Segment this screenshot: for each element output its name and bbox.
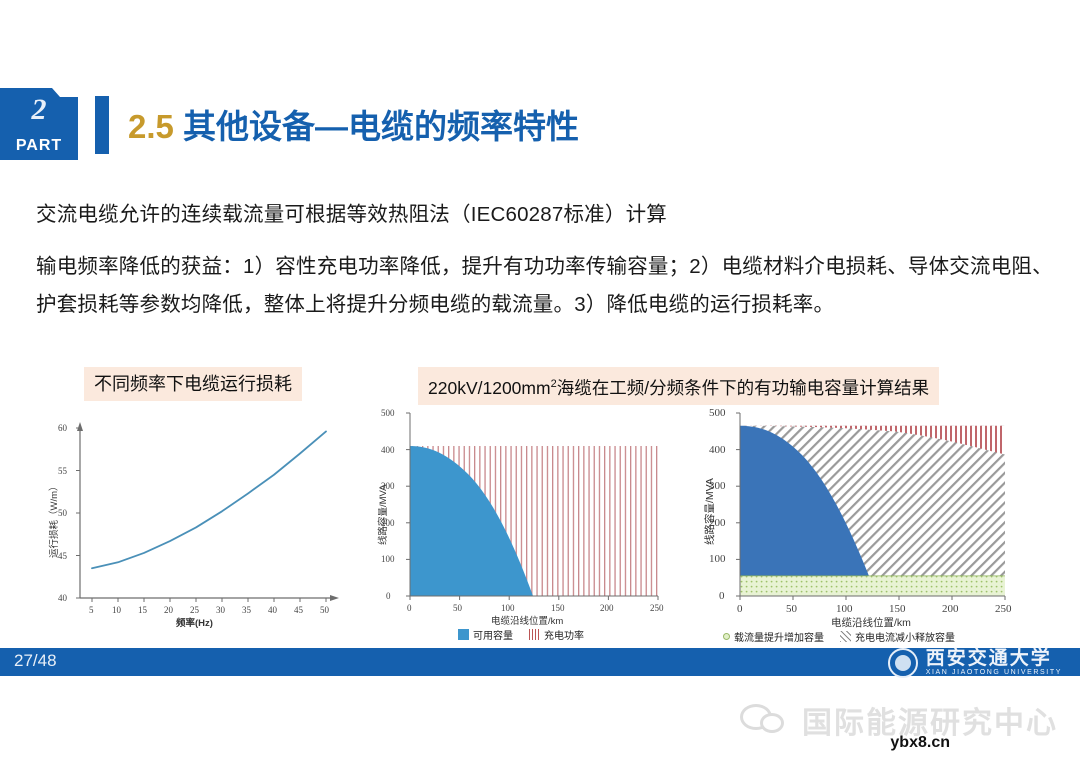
page-title: 2.5 其他设备—电缆的频率特性: [128, 100, 579, 148]
chart1-ytick-55: 55: [58, 466, 67, 476]
chart2-xtick-100: 100: [501, 603, 515, 613]
chart1-xtick-20: 20: [164, 605, 173, 615]
chart2-xaxis-label: 电缆沿线位置/km: [491, 613, 563, 627]
chart3-legend-item-1: 充电电流减小释放容量: [840, 629, 955, 644]
wechat-bubble-small: [760, 713, 784, 733]
paragraph-2: 输电频率降低的获益：1）容性充电功率降低，提升有功功率传输容量；2）电缆材料介电…: [36, 248, 1056, 324]
banner-right-post: 海缆在工频/分频条件下的有功输电容量计算结果: [557, 378, 929, 398]
chart2-xtick-250: 250: [650, 603, 664, 613]
chart3-ytick-100: 100: [709, 553, 726, 565]
chart2-xtick-50: 50: [453, 603, 462, 613]
page-number: 27/48: [14, 651, 57, 671]
chart1-canvas: [28, 418, 358, 633]
chart2-ytick-500: 500: [381, 408, 395, 418]
chart3-ytick-400: 400: [709, 444, 726, 456]
chart3-legend-label-0: 载流量提升增加容量: [734, 629, 824, 644]
legend-swatch-green-dot-icon: [723, 633, 730, 640]
chart2-legend: 可用容量 充电功率: [458, 627, 594, 642]
chart3-ytick-0: 0: [719, 590, 725, 602]
chart2-legend-label-0: 可用容量: [473, 627, 513, 642]
chart3-ytick-500: 500: [709, 407, 726, 419]
chart-banner-left: 不同频率下电缆运行损耗: [84, 367, 302, 401]
chart3-xtick-200: 200: [942, 603, 959, 615]
body-text: 交流电缆允许的连续载流量可根据等效热阻法（IEC60287标准）计算 输电频率降…: [36, 196, 1056, 324]
chart1-xtick-35: 35: [242, 605, 251, 615]
chart1-ytick-60: 60: [58, 423, 67, 433]
university-seal-icon: [888, 648, 918, 678]
chart2-legend-item-1: 充电功率: [529, 627, 584, 642]
chart2-ytick-0: 0: [386, 591, 391, 601]
university-logo: 西安交通大学 XIAN JIAOTONG UNIVERSITY: [888, 648, 1062, 678]
chart3-yaxis-label: 线路容量/MVA: [702, 478, 717, 545]
part-word: PART: [0, 137, 78, 155]
chart2-xtick-150: 150: [551, 603, 565, 613]
chart3-xtick-50: 50: [786, 603, 797, 615]
title-main: 其他设备—电缆的频率特性: [183, 108, 579, 145]
university-name-cn: 西安交通大学: [926, 649, 1062, 669]
chart1-ytick-40: 40: [58, 593, 67, 603]
title-number: 2.5: [128, 108, 174, 145]
chart1-xtick-25: 25: [190, 605, 199, 615]
chart3-xtick-100: 100: [836, 603, 853, 615]
legend-swatch-diagonal-hatch-icon: [840, 631, 851, 642]
chart1-xtick-45: 45: [294, 605, 303, 615]
watermark-url: ybx8.cn: [890, 734, 950, 752]
banner-right-pre: 220kV/1200mm: [428, 378, 551, 398]
legend-swatch-vertical-hatch-icon: [529, 629, 540, 640]
part-badge: 2 PART: [0, 88, 78, 160]
chart3-xtick-150: 150: [889, 603, 906, 615]
chart2-ytick-100: 100: [381, 554, 395, 564]
chart2-xtick-0: 0: [407, 603, 412, 613]
university-name-en: XIAN JIAOTONG UNIVERSITY: [926, 669, 1062, 676]
chart1-xtick-50: 50: [320, 605, 329, 615]
chart2-yaxis-label: 线路容量/MVA: [375, 484, 389, 545]
chart2-canvas: [370, 405, 680, 645]
legend-swatch-blue-icon: [458, 629, 469, 640]
chart1-xtick-30: 30: [216, 605, 225, 615]
chart3-legend: 载流量提升增加容量 充电电流减小释放容量: [723, 629, 965, 644]
chart1-xtick-5: 5: [89, 605, 94, 615]
chart2-legend-item-0: 可用容量: [458, 627, 513, 642]
chart-fractional-frequency-capacity: 0 100 200 300 400 500 0 50 100 150 200 2…: [695, 405, 1055, 645]
chart-power-frequency-capacity: 0 100 200 300 400 500 0 50 100 150 200 2…: [370, 405, 680, 645]
chart3-xtick-0: 0: [737, 603, 743, 615]
chart3-xaxis-label: 电缆沿线位置/km: [831, 615, 911, 630]
chart2-legend-label-1: 充电功率: [544, 627, 584, 642]
chart1-xaxis-label: 频率(Hz): [176, 615, 213, 629]
chart2-xtick-200: 200: [600, 603, 614, 613]
chart-banner-right: 220kV/1200mm2海缆在工频/分频条件下的有功输电容量计算结果: [418, 367, 939, 405]
part-number: 2: [0, 92, 78, 128]
chart1-xtick-15: 15: [138, 605, 147, 615]
title-accent-bar: [95, 96, 109, 154]
chart3-legend-label-1: 充电电流减小释放容量: [855, 629, 955, 644]
chart3-legend-item-0: 载流量提升增加容量: [723, 629, 824, 644]
slide-root: 2 PART 2.5 其他设备—电缆的频率特性 交流电缆允许的连续载流量可根据等…: [0, 0, 1080, 764]
chart1-yaxis-label: 运行损耗（W/m）: [46, 481, 60, 558]
chart1-xtick-10: 10: [112, 605, 121, 615]
chart-loss-vs-frequency: 40 45 50 55 60 5 10 15 20 25 30 35 40 45…: [28, 418, 358, 633]
wechat-icon: [740, 702, 792, 738]
chart3-xtick-250: 250: [995, 603, 1012, 615]
chart2-ytick-400: 400: [381, 445, 395, 455]
chart1-xtick-40: 40: [268, 605, 277, 615]
university-names: 西安交通大学 XIAN JIAOTONG UNIVERSITY: [926, 649, 1062, 676]
paragraph-1: 交流电缆允许的连续载流量可根据等效热阻法（IEC60287标准）计算: [36, 196, 1056, 234]
